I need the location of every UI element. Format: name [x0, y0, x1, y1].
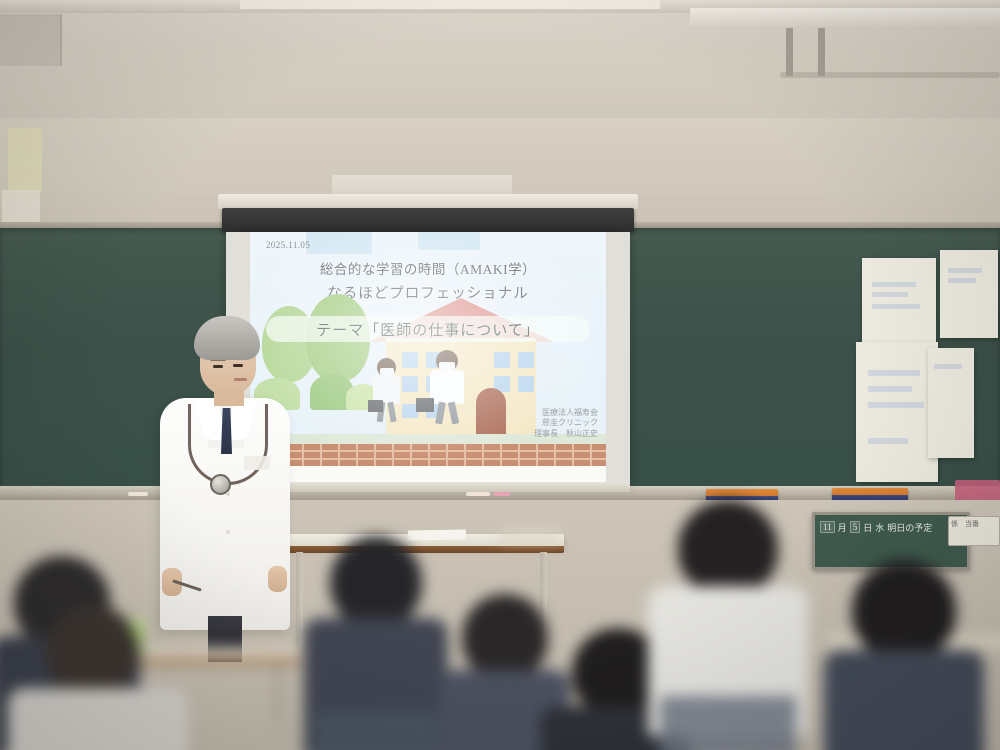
house-window-5: [494, 352, 510, 368]
slide-title-line1: 総合的な学習の時間（AMAKI学）: [250, 258, 606, 278]
brick-wall: [250, 444, 606, 466]
presenter-right-hand: [268, 566, 287, 592]
slide-date: 2025.11.05: [266, 240, 310, 250]
screen-roller-bar: [222, 208, 634, 232]
teacher-podium-edge: [272, 546, 564, 553]
screen-top-bracket: [218, 194, 638, 209]
house-window-8: [518, 376, 534, 392]
rail-post-left: [786, 28, 793, 76]
ceiling: [0, 0, 1000, 122]
schedule-day-unit: 日: [863, 521, 872, 534]
classroom-scene: 2025.11.05 総合的な学習の時間（AMAKI学） なるほどプロフェッショ…: [0, 0, 1000, 750]
pinned-paper-2: [940, 250, 998, 338]
rail-post-right: [818, 28, 825, 76]
chalk-white-2[interactable]: [128, 492, 148, 496]
credit-line-3: 理事長 秋山正史: [534, 429, 598, 440]
schedule-board: 11 月 5 日 水 明日の予定: [812, 512, 970, 570]
slide-credits: 医療法人福寿会 慈圭クリニック 理事長 秋山正史: [534, 408, 598, 440]
credit-line-2: 慈圭クリニック: [534, 418, 598, 429]
credit-line-1: 医療法人福寿会: [534, 408, 598, 419]
clinic-door: [476, 388, 506, 440]
ceiling-beam-right: [690, 8, 1000, 26]
ceiling-beam-center: [240, 0, 660, 9]
schedule-side-note: 係 当番: [948, 516, 1000, 546]
presentation-slide: 2025.11.05 総合的な学習の時間（AMAKI学） なるほどプロフェッショ…: [250, 232, 606, 466]
slide-theme-text: テーマ「医師の仕事について」: [250, 319, 606, 340]
schedule-day: 5: [850, 521, 861, 533]
schedule-label: 明日の予定: [887, 521, 932, 534]
schedule-month: 11: [820, 521, 835, 533]
presenter-hair: [194, 316, 260, 360]
podium-leg-right: [540, 552, 547, 647]
presenter-trousers: [208, 616, 242, 662]
slide-sky-block-2: [418, 232, 480, 250]
pinned-paper-3: [856, 342, 938, 482]
ceiling-rail: [780, 72, 1000, 78]
presenter-doctor: [150, 316, 300, 646]
illustration-nurse: [368, 358, 408, 424]
house-window-6: [518, 352, 534, 368]
pinned-paper-4: [928, 348, 974, 458]
podium-paper: [408, 529, 466, 540]
ceiling-duct: [0, 14, 62, 66]
stethoscope: [188, 404, 268, 485]
screen-letterbox-right: [606, 232, 630, 482]
coat-breast-pocket: [244, 456, 270, 470]
wall-poster-yellow: [8, 128, 42, 192]
presenter-mouth: [234, 378, 247, 381]
schedule-weekday: 水: [875, 521, 884, 534]
slide-sky-block-1: [306, 232, 372, 254]
schedule-row: 11 月 5 日 水 明日の予定: [820, 519, 962, 535]
illustration-doctor: [426, 350, 474, 426]
schedule-month-unit: 月: [838, 521, 847, 534]
